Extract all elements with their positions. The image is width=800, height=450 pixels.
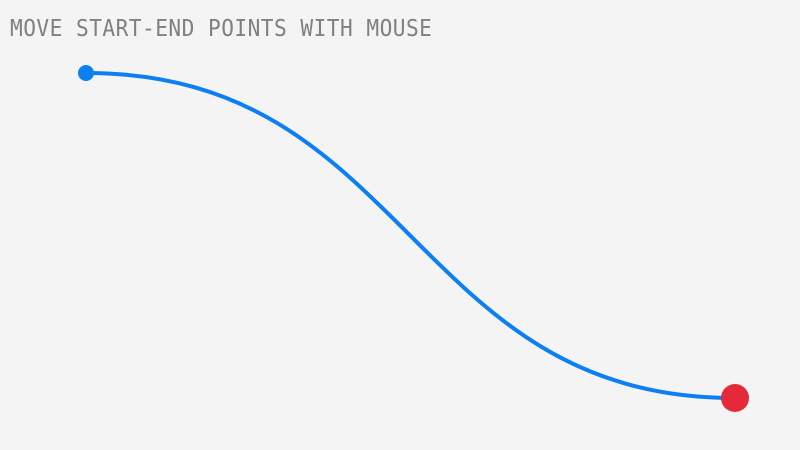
curve-stage[interactable] [0, 0, 800, 450]
start-point-handle[interactable] [78, 65, 94, 81]
bezier-curve-path [86, 73, 735, 398]
end-point-handle[interactable] [721, 384, 749, 412]
bezier-demo-canvas[interactable]: MOVE START-END POINTS WITH MOUSE [0, 0, 800, 450]
bezier-curve-svg[interactable] [0, 0, 800, 450]
